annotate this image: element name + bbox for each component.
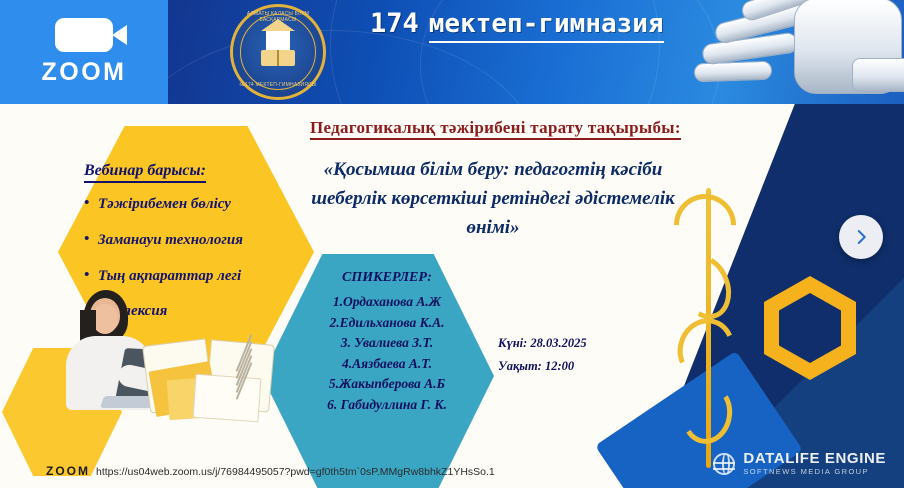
zoom-wordmark-label: ZOOM — [42, 58, 127, 87]
ornament-curl — [677, 380, 737, 448]
event-datetime-block: Күні: 28.03.2025 Уақыт: 12:00 — [498, 332, 587, 377]
ornament-curl — [670, 247, 740, 326]
emblem-book-icon — [261, 50, 295, 66]
zoom-link-row: ZOOM https://us04web.zoom.us/j/769844950… — [46, 464, 495, 478]
zoom-logo: ZOOM — [0, 0, 168, 104]
globe-icon — [713, 453, 735, 475]
watermark: DATALIFE ENGINE SOFTNEWS MEDIA GROUP — [713, 451, 886, 476]
webinar-agenda-item: Тың ақпараттар легі — [98, 269, 314, 285]
chevron-right-icon — [852, 228, 870, 246]
school-number: 174 — [370, 8, 419, 39]
topic-title: «Қосымша білім беру: педагогтің кәсіби ш… — [308, 156, 678, 243]
slide-header-banner: ZOOM АЛМАТЫ ҚАЛАСЫ БІЛІМ БАСҚАРМАСЫ №174… — [0, 0, 904, 104]
speaker-name: 2.Едильханова К.А. — [292, 313, 482, 334]
event-date: Күні: 28.03.2025 — [498, 332, 587, 355]
event-time: Уақыт: 12:00 — [498, 355, 587, 378]
robot-finger — [694, 61, 773, 83]
speakers-heading: СПИКЕРЛЕР: — [292, 270, 482, 286]
video-camera-icon — [55, 18, 113, 52]
watermark-text: DATALIFE ENGINE SOFTNEWS MEDIA GROUP — [743, 451, 886, 476]
webinar-agenda-heading: Вебинар барысы: — [84, 162, 206, 183]
kazakh-ornament-decoration — [672, 188, 750, 468]
webinar-agenda-item: Тәжірибемен бөлісу — [98, 197, 314, 213]
zoom-meeting-link[interactable]: https://us04web.zoom.us/j/76984495057?pw… — [96, 466, 495, 478]
speakers-block: СПИКЕРЛЕР: 1.Ордаханова А.Ж 2.Едильханов… — [292, 270, 482, 415]
emblem-bottom-text: №174 МЕКТЕП-ГИМНАЗИЯСЫ — [228, 82, 328, 88]
school-emblem-icon: АЛМАТЫ ҚАЛАСЫ БІЛІМ БАСҚАРМАСЫ №174 МЕКТ… — [228, 2, 332, 102]
ornament-curl — [669, 310, 743, 387]
speaker-name: 6. Габидуллина Г. К. — [292, 395, 482, 416]
robot-hand-illustration — [684, 0, 904, 104]
webinar-agenda-item: Заманауи технология — [98, 233, 314, 249]
watermark-title: DATALIFE ENGINE — [743, 451, 886, 467]
school-name: мектеп-гимназия — [429, 9, 664, 43]
poster-body: Вебинар барысы: Тәжірибемен бөлісу Заман… — [0, 104, 904, 488]
topic-label-text: Педагогикалық тәжірибені тарату тақырыбы… — [310, 118, 681, 140]
speaker-name: 5.Жакыпберова А.Б — [292, 374, 482, 395]
emblem-house-icon — [266, 30, 290, 52]
banner-title: 174мектеп-гимназия — [370, 8, 700, 39]
speaker-name: 1.Ордаханова А.Ж — [292, 292, 482, 313]
open-books-illustration — [138, 318, 278, 438]
speaker-name: 3. Увалиева З.Т. — [292, 333, 482, 354]
zoom-link-label: ZOOM — [46, 464, 90, 478]
presentation-slide: ZOOM АЛМАТЫ ҚАЛАСЫ БІЛІМ БАСҚАРМАСЫ №174… — [0, 0, 904, 488]
watermark-subtitle: SOFTNEWS MEDIA GROUP — [743, 467, 886, 476]
speaker-name: 4.Аязбаева А.Т. — [292, 354, 482, 375]
next-slide-button[interactable] — [839, 215, 883, 259]
robot-wrist — [852, 58, 904, 92]
book-text-lines — [224, 352, 268, 406]
topic-label: Педагогикалық тәжірибені тарату тақырыбы… — [310, 118, 681, 138]
